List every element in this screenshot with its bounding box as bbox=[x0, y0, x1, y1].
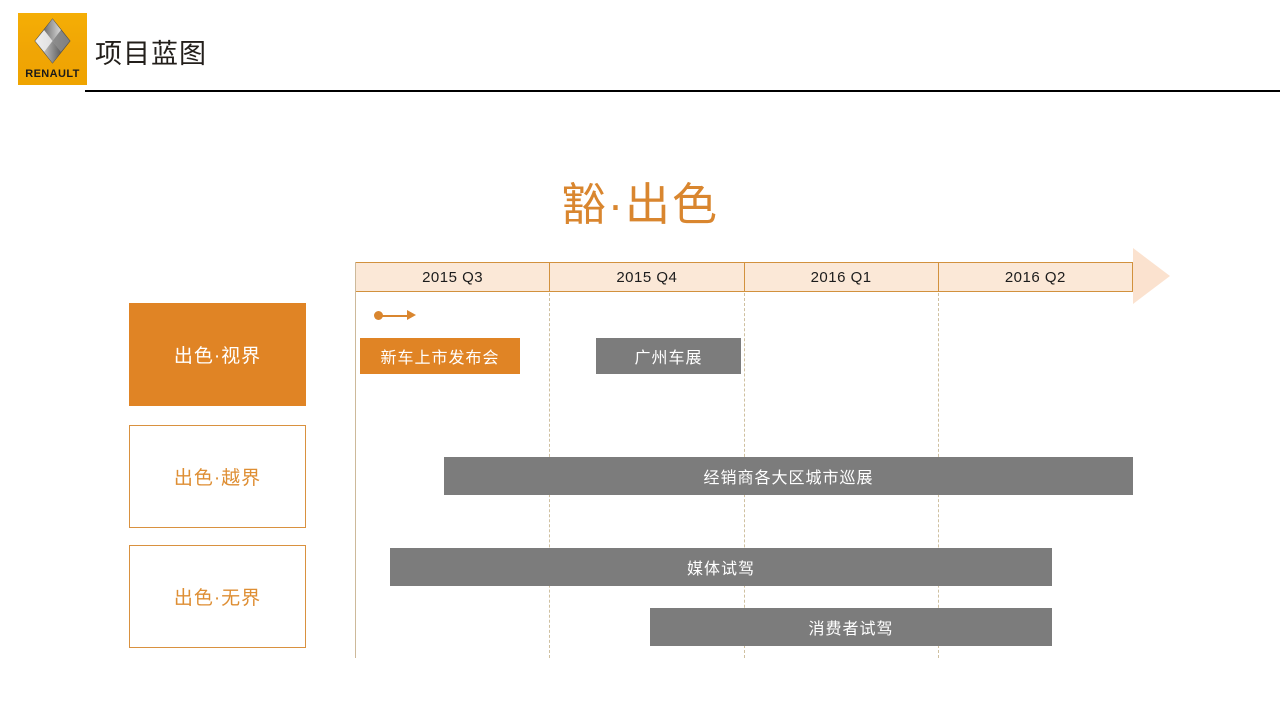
gantt-bar-label: 经销商各大区城市巡展 bbox=[703, 464, 873, 488]
category-label: 出色·无界 bbox=[174, 583, 261, 610]
gantt-bar-label: 新车上市发布会 bbox=[380, 344, 499, 368]
gantt-bar-jingxiaoshang-xunzhan[interactable]: 经销商各大区城市巡展 bbox=[444, 457, 1133, 495]
timeline-quarter-cell: 2015 Q4 bbox=[550, 263, 744, 291]
timeline-axis bbox=[355, 262, 356, 658]
gantt-bar-label: 广州车展 bbox=[634, 344, 702, 368]
timeline-quarter-cell: 2016 Q1 bbox=[745, 263, 939, 291]
page-title: 项目蓝图 bbox=[95, 32, 207, 71]
timeline-quarter-cell: 2015 Q3 bbox=[356, 263, 550, 291]
milestone-arrowhead-icon bbox=[407, 310, 416, 320]
renault-diamond-icon bbox=[18, 17, 87, 65]
renault-logo: RENAULT bbox=[18, 13, 87, 85]
timeline-arrow-icon bbox=[1133, 248, 1170, 304]
slide-title: 豁·出色 bbox=[0, 168, 1280, 233]
category-box-shijie[interactable]: 出色·视界 bbox=[129, 303, 306, 406]
header-divider bbox=[85, 90, 1280, 92]
timeline-header: 2015 Q3 2015 Q4 2016 Q1 2016 Q2 bbox=[355, 262, 1133, 292]
category-label: 出色·视界 bbox=[174, 341, 261, 368]
gantt-bar-meiti-shijia[interactable]: 媒体试驾 bbox=[390, 548, 1052, 586]
slide-header: RENAULT 项目蓝图 bbox=[0, 0, 1280, 96]
category-box-wujie[interactable]: 出色·无界 bbox=[129, 545, 306, 648]
renault-wordmark: RENAULT bbox=[18, 68, 87, 80]
category-box-yuejie[interactable]: 出色·越界 bbox=[129, 425, 306, 528]
gantt-bar-label: 媒体试驾 bbox=[687, 555, 755, 579]
gantt-chart: 2015 Q3 2015 Q4 2016 Q1 2016 Q2 新车上市发布会 … bbox=[355, 248, 1175, 663]
gantt-bar-label: 消费者试驾 bbox=[808, 615, 893, 639]
gantt-bar-xiaofeizhe-shijia[interactable]: 消费者试驾 bbox=[650, 608, 1052, 646]
gantt-bar-guangzhou-chezhan[interactable]: 广州车展 bbox=[596, 338, 741, 374]
timeline-quarter-cell: 2016 Q2 bbox=[939, 263, 1132, 291]
milestone-arrow-marker bbox=[374, 309, 417, 321]
gantt-bar-xinche-fabuhui[interactable]: 新车上市发布会 bbox=[360, 338, 520, 374]
category-label: 出色·越界 bbox=[174, 463, 261, 490]
milestone-shaft bbox=[381, 315, 408, 317]
